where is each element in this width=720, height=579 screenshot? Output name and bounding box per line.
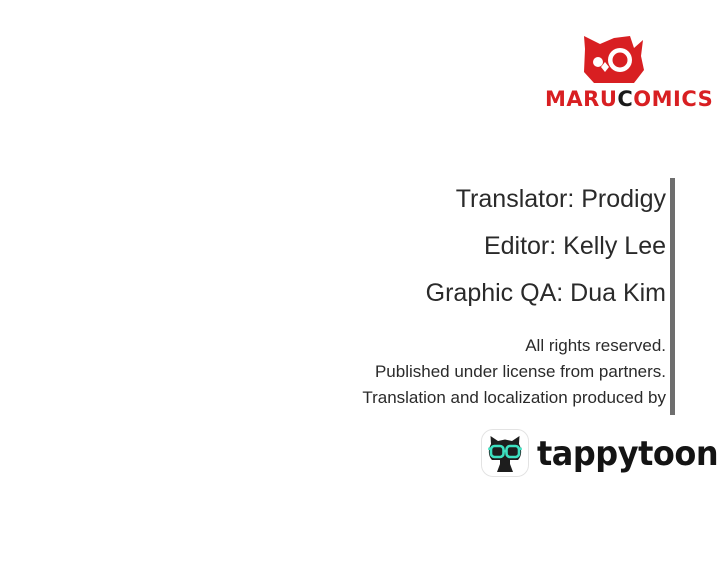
legal-line-license: Published under license from partners. [206, 359, 666, 385]
credits-divider-bar [670, 178, 675, 415]
publisher-logo: MARUCOMICS [545, 36, 681, 116]
platform-logo: tappytoon [481, 429, 677, 479]
publisher-wordmark: MARUCOMICS [545, 86, 681, 112]
credits-list: Translator: Prodigy Editor: Kelly Lee Gr… [246, 176, 666, 317]
credits-page: MARUCOMICS Translator: Prodigy Editor: K… [0, 0, 720, 579]
wordmark-omics: OMICS [633, 87, 713, 111]
wordmark-maru: MARU [545, 87, 617, 111]
credit-line-graphic-qa: Graphic QA: Dua Kim [246, 270, 666, 317]
tappytoon-cat-icon [481, 429, 529, 477]
owl-head-icon [578, 36, 650, 86]
tappytoon-wordmark: tappytoon [537, 434, 718, 474]
legal-line-rights: All rights reserved. [206, 333, 666, 359]
legal-line-localization: Translation and localization produced by [206, 385, 666, 411]
legal-notice: All rights reserved. Published under lic… [206, 333, 666, 411]
credit-line-translator: Translator: Prodigy [246, 176, 666, 223]
wordmark-c: C [617, 87, 633, 111]
credit-line-editor: Editor: Kelly Lee [246, 223, 666, 270]
